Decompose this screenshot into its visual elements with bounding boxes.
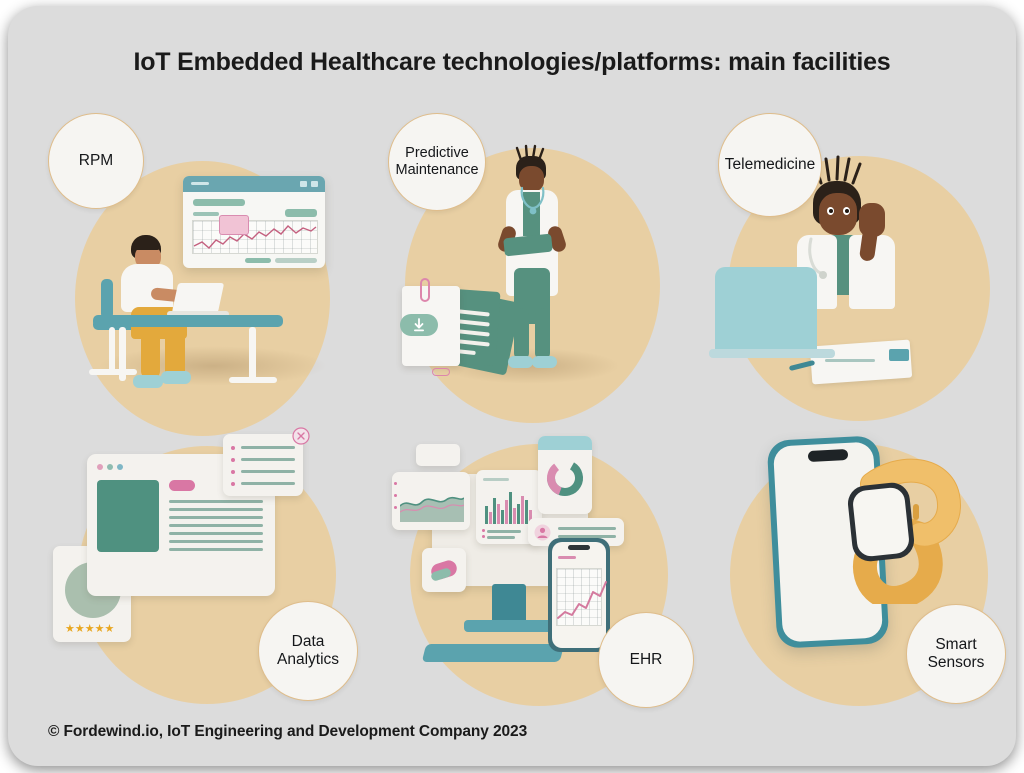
da-text-line-6 bbox=[169, 540, 263, 543]
facility-card-ehr[interactable]: EHR bbox=[380, 426, 700, 726]
facility-label-rpm-text: RPM bbox=[79, 152, 113, 170]
ehr-donut-chart bbox=[545, 458, 585, 498]
rpm-green-pill-1 bbox=[193, 199, 245, 206]
da-bullet-1 bbox=[231, 446, 235, 450]
ehr-bar-legend-dot-2 bbox=[482, 535, 485, 538]
ehr-donut-chart-card bbox=[538, 436, 592, 514]
pm-paperclip-icon bbox=[420, 278, 430, 302]
rpm-desk-foot bbox=[229, 377, 277, 383]
tm-laptop-base bbox=[709, 349, 835, 358]
da-list-line-3 bbox=[241, 470, 295, 473]
facility-card-smart-sensors[interactable]: SmartSensors bbox=[708, 426, 1016, 726]
ehr-bar-chart-title bbox=[483, 478, 509, 481]
rpm-chair-back bbox=[101, 279, 113, 319]
facility-label-predictive-maintenance-text: PredictiveMaintenance bbox=[395, 145, 478, 179]
da-image-block bbox=[97, 480, 159, 552]
ehr-area-chart bbox=[400, 480, 464, 522]
facility-label-telemedicine[interactable]: Telemedicine bbox=[718, 113, 822, 217]
rpm-line-chart bbox=[192, 220, 318, 254]
da-list-line-1 bbox=[241, 446, 295, 449]
da-text-line-1 bbox=[169, 500, 263, 503]
ehr-bar-chart bbox=[483, 488, 535, 524]
da-bullet-3 bbox=[231, 470, 235, 474]
da-bullet-4 bbox=[231, 482, 235, 486]
ehr-monitor-base bbox=[464, 620, 560, 632]
pm-doctor-leg-2 bbox=[535, 308, 550, 360]
rpm-window-control-1 bbox=[300, 181, 307, 187]
ehr-area-axis-dot-2 bbox=[394, 494, 397, 497]
tm-doctor-head bbox=[819, 193, 857, 235]
facility-label-data-analytics-text: DataAnalytics bbox=[277, 633, 339, 670]
poster-canvas: IoT Embedded Healthcare technologies/pla… bbox=[8, 6, 1016, 766]
tm-laptop-lid bbox=[715, 267, 817, 353]
ehr-phone-notch bbox=[568, 545, 590, 550]
facility-label-rpm[interactable]: RPM bbox=[48, 113, 144, 209]
stethoscope-icon bbox=[514, 186, 552, 220]
facility-label-data-analytics[interactable]: DataAnalytics bbox=[258, 601, 358, 701]
tm-paper-tab bbox=[889, 349, 909, 361]
rpm-desk-top bbox=[93, 315, 283, 327]
rpm-laptop-screen bbox=[172, 283, 224, 313]
ehr-wearable-card bbox=[422, 548, 466, 592]
ehr-area-chart-card bbox=[392, 472, 470, 530]
facility-card-rpm[interactable]: RPM bbox=[53, 131, 373, 431]
facility-card-data-analytics[interactable]: ★★★★★ bbox=[53, 426, 373, 726]
da-text-line-2 bbox=[169, 508, 263, 511]
rpm-chart-tooltip bbox=[219, 215, 249, 235]
ss-watch-crown bbox=[913, 504, 919, 520]
download-icon bbox=[411, 318, 427, 333]
da-cta-pill bbox=[169, 480, 195, 491]
da-text-line-7 bbox=[169, 548, 263, 551]
page-title: IoT Embedded Healthcare technologies/pla… bbox=[8, 48, 1016, 77]
rpm-desk-leg-1 bbox=[119, 327, 126, 381]
da-text-line-4 bbox=[169, 524, 263, 527]
facility-label-predictive-maintenance[interactable]: PredictiveMaintenance bbox=[388, 113, 486, 211]
facility-label-ehr[interactable]: EHR bbox=[598, 612, 694, 708]
ehr-user-line-1 bbox=[558, 527, 616, 530]
rpm-desk-leg-2 bbox=[249, 327, 256, 381]
ehr-keyboard bbox=[422, 644, 564, 662]
facility-label-ehr-text: EHR bbox=[630, 651, 663, 669]
da-window-dot-2 bbox=[107, 464, 113, 470]
da-text-line-3 bbox=[169, 516, 263, 519]
user-icon bbox=[534, 524, 551, 541]
pm-doctor-locs bbox=[512, 144, 552, 166]
facility-card-predictive-maintenance[interactable]: PredictiveMaintenance bbox=[380, 118, 700, 418]
pm-doctor-shoe-1 bbox=[508, 356, 533, 368]
da-window-dot-3 bbox=[117, 464, 123, 470]
ehr-donut-card-header bbox=[538, 436, 592, 450]
tm-doctor-pupil-right bbox=[845, 209, 849, 213]
tm-doctor-pupil-left bbox=[829, 209, 833, 213]
facility-card-telemedicine[interactable]: Telemedicine bbox=[703, 131, 1016, 431]
rpm-dashboard-window bbox=[183, 176, 325, 268]
ehr-phone-line-chart bbox=[556, 568, 608, 626]
rpm-footer-pill-1 bbox=[245, 258, 271, 263]
rpm-green-pill-2 bbox=[285, 209, 317, 217]
da-list-line-2 bbox=[241, 458, 295, 461]
ss-watch-screen bbox=[852, 486, 911, 557]
rpm-person-shoe-2 bbox=[133, 375, 163, 388]
facility-label-telemedicine-text: Telemedicine bbox=[725, 156, 815, 174]
ehr-area-axis-dot-1 bbox=[394, 482, 397, 485]
rpm-label-1 bbox=[193, 212, 219, 216]
facility-label-smart-sensors[interactable]: SmartSensors bbox=[906, 604, 1006, 704]
pm-doctor-shoe-2 bbox=[532, 356, 557, 368]
tm-paper-line-1 bbox=[825, 359, 875, 362]
ehr-phone-header-line bbox=[558, 556, 576, 559]
da-list-line-4 bbox=[241, 482, 295, 485]
da-text-line-5 bbox=[169, 532, 263, 535]
rpm-window-control-2 bbox=[311, 181, 318, 187]
copyright-footer: © Fordewind.io, IoT Engineering and Deve… bbox=[48, 723, 527, 741]
da-bullet-2 bbox=[231, 458, 235, 462]
pm-doctor-leg-1 bbox=[514, 308, 529, 360]
tm-paper-sheet bbox=[810, 340, 912, 385]
ehr-area-axis-dot-3 bbox=[394, 506, 397, 509]
rpm-window-title-stub bbox=[191, 182, 209, 185]
rpm-dashboard-titlebar bbox=[183, 176, 325, 192]
da-rating-stars: ★★★★★ bbox=[65, 622, 114, 635]
rpm-chair-foot bbox=[89, 369, 137, 375]
da-window-dot-1 bbox=[97, 464, 103, 470]
rpm-chair-leg bbox=[109, 327, 115, 373]
rpm-footer-pill-2 bbox=[275, 258, 317, 263]
rpm-person-fringe bbox=[132, 237, 160, 250]
rpm-person-shoe-1 bbox=[161, 371, 191, 384]
close-icon[interactable] bbox=[291, 426, 311, 446]
pm-small-clip-icon bbox=[432, 368, 450, 376]
ehr-bar-legend-1 bbox=[487, 530, 521, 533]
rpm-person-leg-2 bbox=[141, 331, 160, 379]
ehr-chat-bubble bbox=[416, 444, 460, 466]
facility-label-smart-sensors-text: SmartSensors bbox=[928, 636, 985, 673]
ehr-bar-legend-2 bbox=[487, 536, 515, 539]
ehr-bar-legend-dot-1 bbox=[482, 529, 485, 532]
